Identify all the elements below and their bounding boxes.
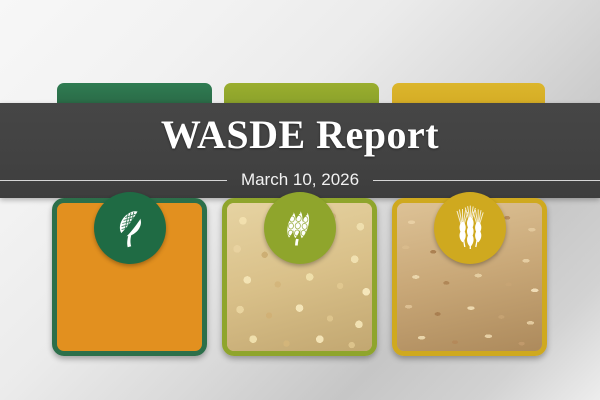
soybean-pods-icon bbox=[277, 205, 323, 251]
wheat-stalks-icon bbox=[446, 204, 494, 252]
wheat-card bbox=[392, 198, 547, 356]
corn-badge bbox=[94, 192, 166, 264]
report-date: March 10, 2026 bbox=[241, 170, 359, 190]
date-row: March 10, 2026 bbox=[0, 169, 600, 191]
soybean-card bbox=[222, 198, 377, 356]
wheat-badge bbox=[434, 192, 506, 264]
wasde-report-graphic: WASDE Report March 10, 2026 bbox=[0, 0, 600, 400]
title-banner: WASDE Report March 10, 2026 bbox=[0, 103, 600, 198]
page-title: WASDE Report bbox=[0, 111, 600, 158]
soybean-badge bbox=[264, 192, 336, 264]
corn-cob-icon bbox=[107, 205, 153, 251]
rule-right bbox=[373, 180, 600, 181]
rule-left bbox=[0, 180, 227, 181]
corn-card bbox=[52, 198, 207, 356]
